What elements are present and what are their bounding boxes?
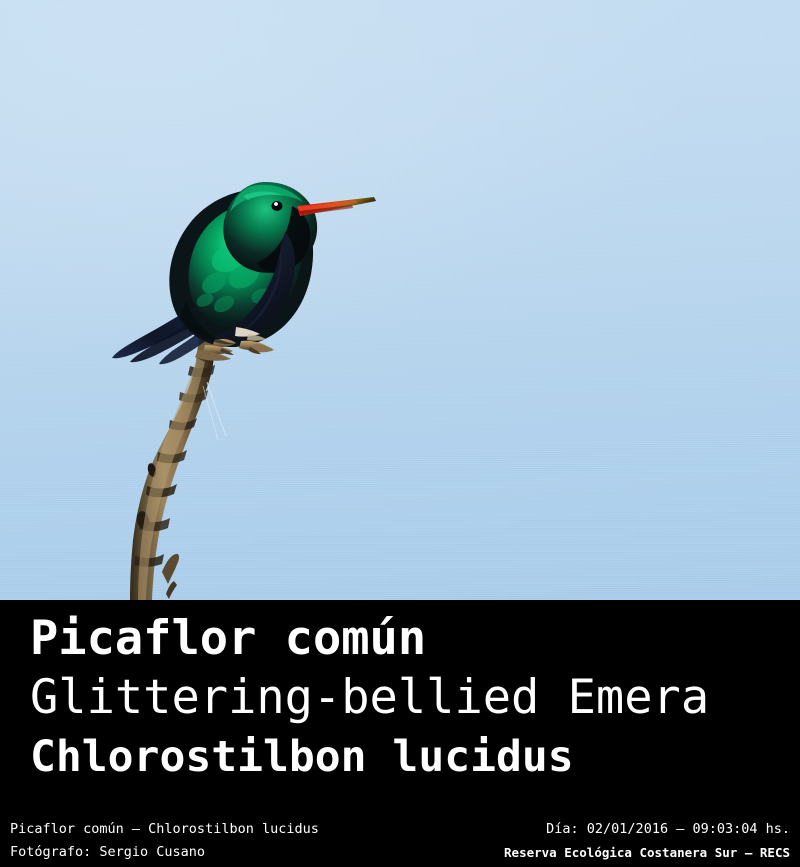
hummingbird — [0, 0, 800, 600]
scientific-name-title: Chlorostilbon lucidus — [30, 731, 574, 783]
caption-date-line: Día: 02/01/2016 – 09:03:04 hs. — [546, 821, 790, 837]
caption-photographer-line: Fotógrafo: Sergio Cusano — [10, 844, 205, 860]
caption-bar: Picaflor común Glittering-bellied Emera … — [0, 600, 800, 867]
bird-eye-highlight — [274, 202, 278, 206]
caption-species-line: Picaflor común – Chlorostilbon lucidus — [10, 821, 319, 837]
photo-card: Picaflor común Glittering-bellied Emera … — [0, 0, 800, 867]
english-name-title: Glittering-bellied Emera — [30, 670, 709, 726]
common-name-title: Picaflor común — [30, 611, 426, 667]
caption-location-line: Reserva Ecológica Costanera Sur – RECS — [504, 845, 790, 861]
bird-photograph — [0, 0, 800, 600]
